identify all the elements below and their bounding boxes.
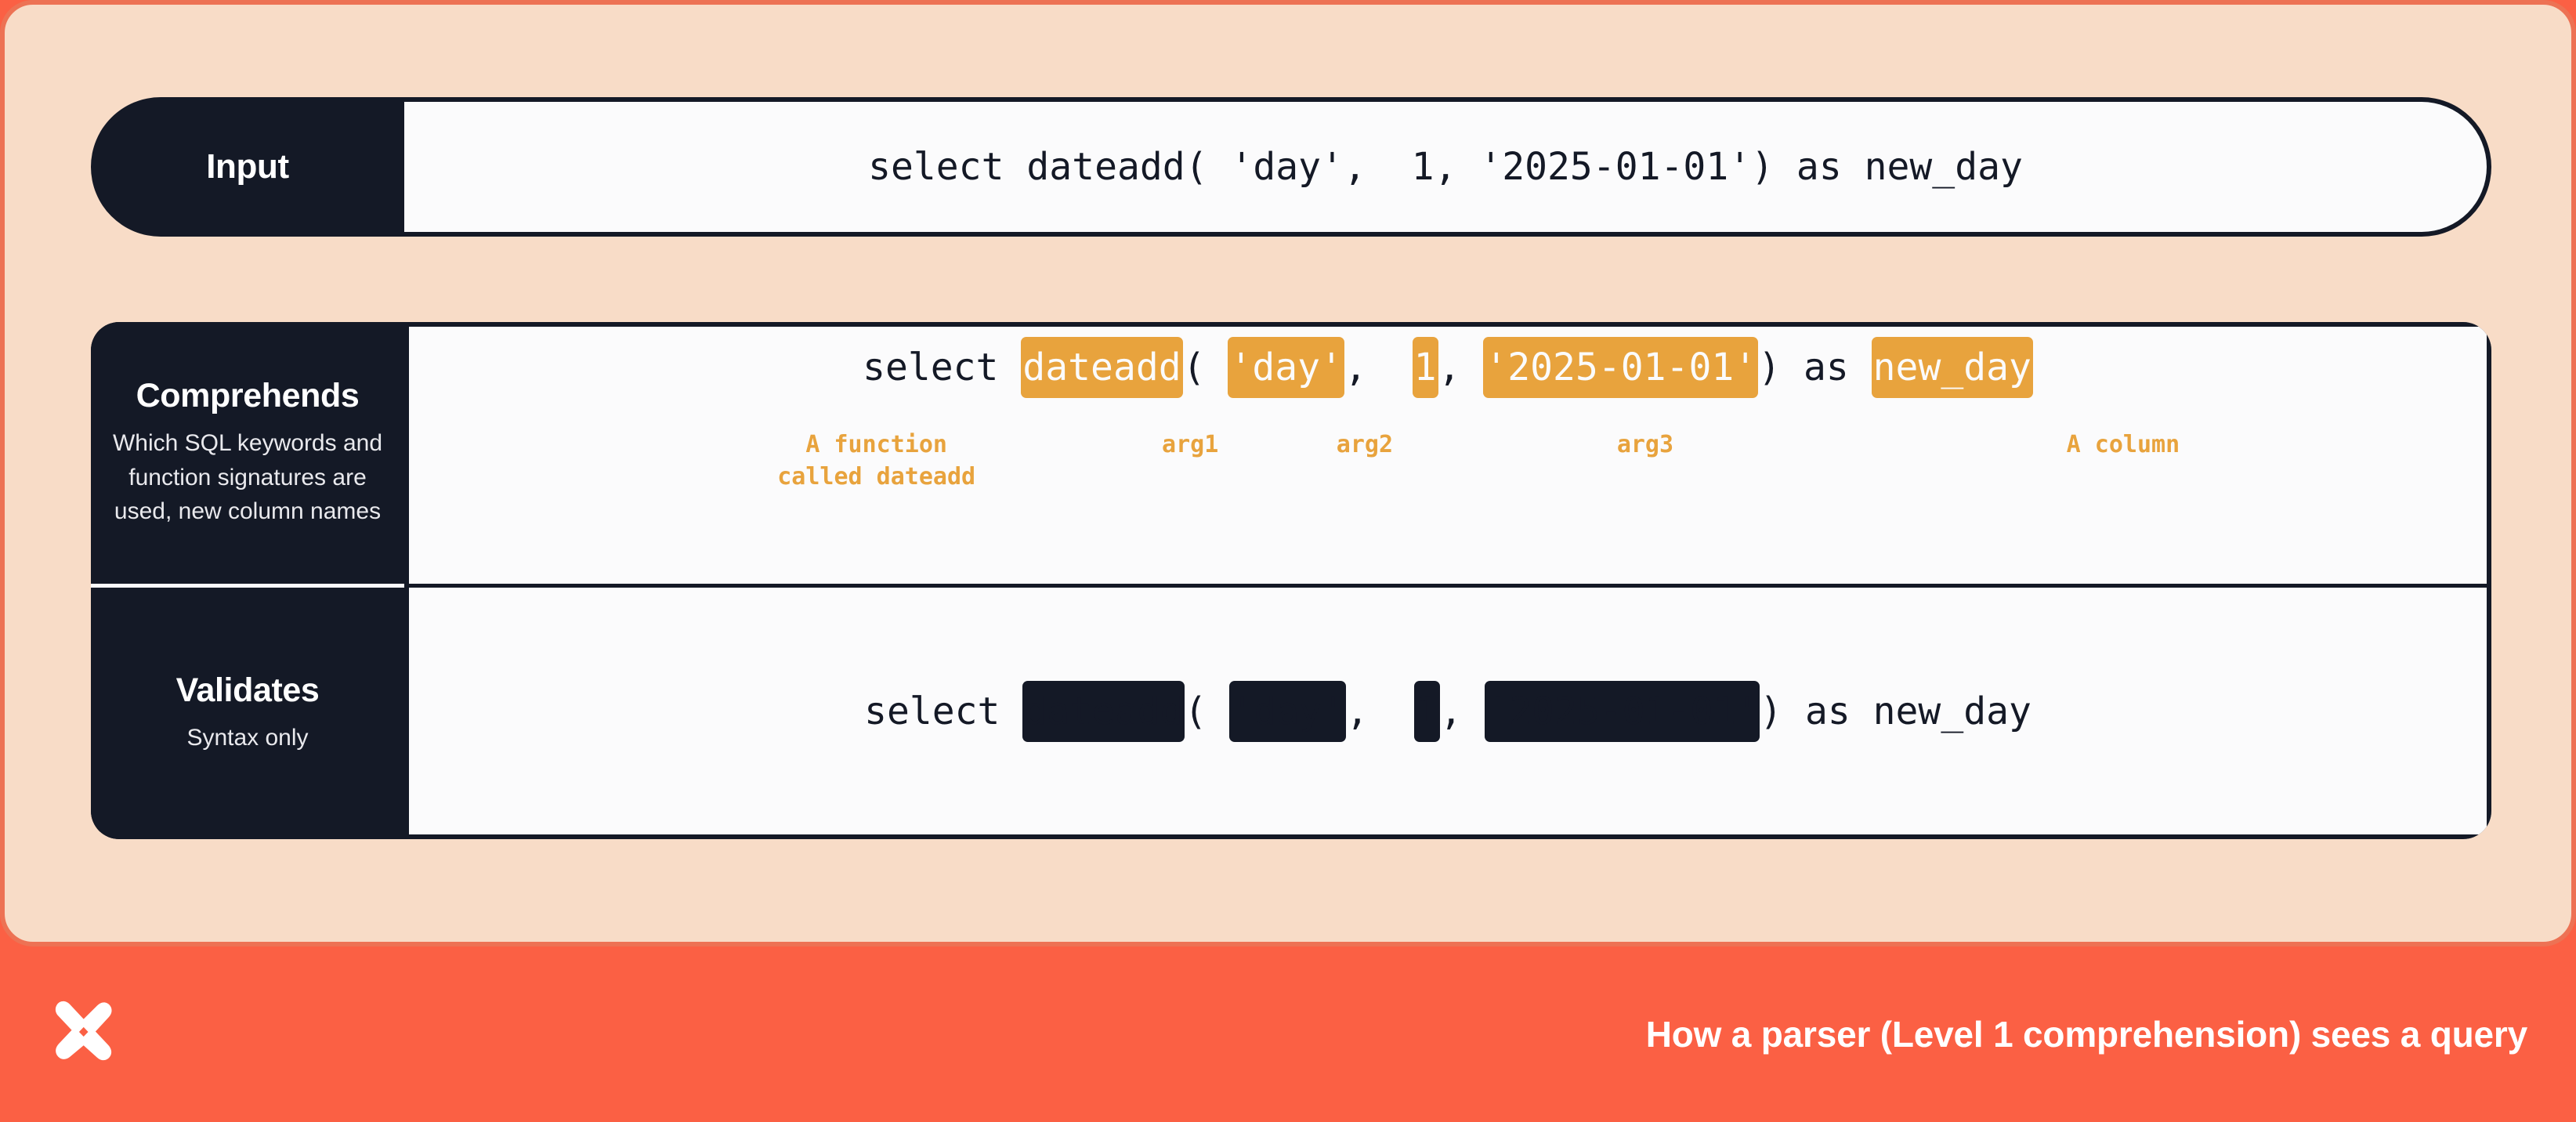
- annotation-label-0: A function called dateadd: [777, 429, 975, 494]
- redacted-token-7: '2025-01-01': [1485, 681, 1760, 742]
- validates-code-text: select dateadd( 'day', 1, '2025-01-01') …: [864, 689, 2031, 733]
- comprehends-row-subtitle: Which SQL keywords and function signatur…: [111, 426, 384, 529]
- input-label-cell: Input: [91, 97, 404, 237]
- plain-token-4: ,: [1344, 346, 1413, 389]
- validates-row-subtitle: Syntax only: [186, 721, 308, 755]
- redacted-token-1: dateadd: [1022, 681, 1184, 742]
- plain-token-4: ,: [1346, 689, 1414, 733]
- input-code-text: select dateadd( 'day', 1, '2025-01-01') …: [868, 145, 2023, 189]
- poster-root: Input select dateadd( 'day', 1, '2025-01…: [0, 0, 2576, 1122]
- plain-token-8: ) as: [1758, 346, 1872, 389]
- input-row: Input select dateadd( 'day', 1, '2025-01…: [91, 97, 2491, 237]
- plain-token-0: select: [864, 689, 1022, 733]
- plain-token-0: select: [863, 346, 1021, 389]
- parser-behaviour-card: Comprehends Which SQL keywords and funct…: [91, 322, 2491, 839]
- plain-token-2: (: [1183, 346, 1228, 389]
- plain-token-6: ,: [1440, 689, 1485, 733]
- highlighted-token-5: 1: [1413, 337, 1438, 398]
- annotation-label-2: arg2: [1337, 429, 1393, 461]
- footer-caption-text: How a parser (Level 1 comprehension) see…: [1646, 1013, 2527, 1055]
- comprehends-annotated-code: select dateadd( 'day', 1, '2025-01-01') …: [409, 327, 2487, 584]
- footer-bar: How a parser (Level 1 comprehension) see…: [0, 946, 2576, 1122]
- redacted-token-3: 'day': [1229, 681, 1346, 742]
- diagram-canvas: Input select dateadd( 'day', 1, '2025-01…: [0, 0, 2576, 946]
- highlighted-token-3: 'day': [1228, 337, 1344, 398]
- validates-row-title: Validates: [176, 671, 320, 710]
- plain-token-6: ,: [1438, 346, 1484, 389]
- annotation-label-1: arg1: [1162, 429, 1218, 461]
- comprehends-code-text: select dateadd( 'day', 1, '2025-01-01') …: [409, 346, 2487, 389]
- validates-row: Validates Syntax only select dateadd( 'd…: [91, 588, 2491, 839]
- validates-label-cell: Validates Syntax only: [91, 588, 404, 839]
- plain-token-2: (: [1185, 689, 1230, 733]
- annotation-layer: A function called dateaddarg1arg2arg3A c…: [409, 429, 2487, 538]
- annotation-label-4: A column: [2067, 429, 2180, 461]
- comprehends-row: Comprehends Which SQL keywords and funct…: [91, 322, 2491, 588]
- redacted-token-5: 1: [1414, 681, 1440, 742]
- comprehends-code-cell: select dateadd( 'day', 1, '2025-01-01') …: [404, 322, 2491, 588]
- plain-token-8: ) as new_day: [1760, 689, 2031, 733]
- highlighted-token-1: dateadd: [1021, 337, 1182, 398]
- x-mark-logo-icon: [49, 994, 130, 1075]
- highlighted-token-7: '2025-01-01': [1483, 337, 1758, 398]
- highlighted-token-9: new_day: [1872, 337, 2033, 398]
- comprehends-row-title: Comprehends: [136, 377, 360, 415]
- annotation-label-3: arg3: [1617, 429, 1673, 461]
- validates-code-cell: select dateadd( 'day', 1, '2025-01-01') …: [404, 588, 2491, 839]
- input-code-cell: select dateadd( 'day', 1, '2025-01-01') …: [404, 97, 2491, 237]
- comprehends-label-cell: Comprehends Which SQL keywords and funct…: [91, 322, 404, 588]
- input-row-title: Input: [206, 147, 289, 187]
